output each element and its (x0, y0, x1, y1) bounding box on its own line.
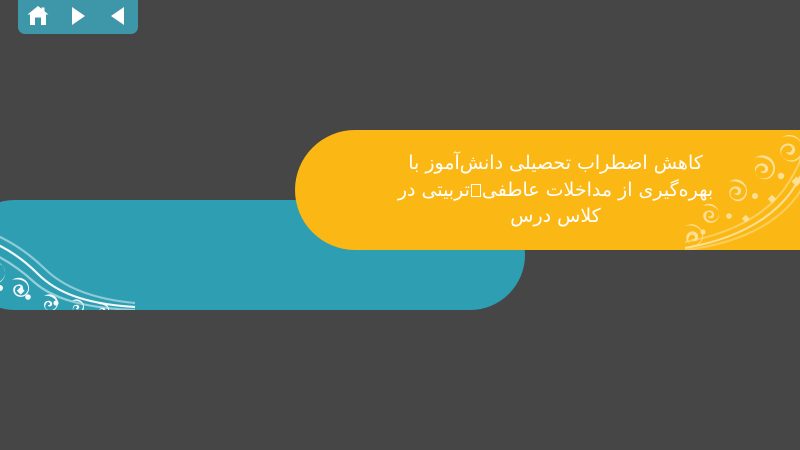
title-line-3: کلاس درس (510, 203, 600, 230)
forward-button[interactable] (63, 3, 93, 29)
title-line-2-part-b: تربیتی در (398, 179, 470, 201)
triangle-right-icon (69, 6, 87, 26)
home-button[interactable] (23, 3, 53, 29)
missing-glyph-box (471, 184, 481, 197)
triangle-left-icon (109, 6, 127, 26)
home-icon (26, 5, 50, 27)
title-line-1: کاهش اضطراب تحصیلی دانش‌آموز با (408, 150, 703, 177)
back-button[interactable] (103, 3, 133, 29)
arabesque-corner-ornament-teal (0, 200, 135, 310)
title-line-2-part-a: بهره‌گیری از مداخلات عاطفی (482, 179, 713, 201)
slide-title: کاهش اضطراب تحصیلی دانش‌آموز با بهره‌گیر… (295, 130, 800, 250)
title-line-2: بهره‌گیری از مداخلات عاطفیتربیتی در (398, 177, 713, 204)
navigation-bar (18, 0, 138, 34)
presentation-slide: کاهش اضطراب تحصیلی دانش‌آموز با بهره‌گیر… (0, 0, 800, 450)
orange-title-band: کاهش اضطراب تحصیلی دانش‌آموز با بهره‌گیر… (295, 130, 800, 250)
